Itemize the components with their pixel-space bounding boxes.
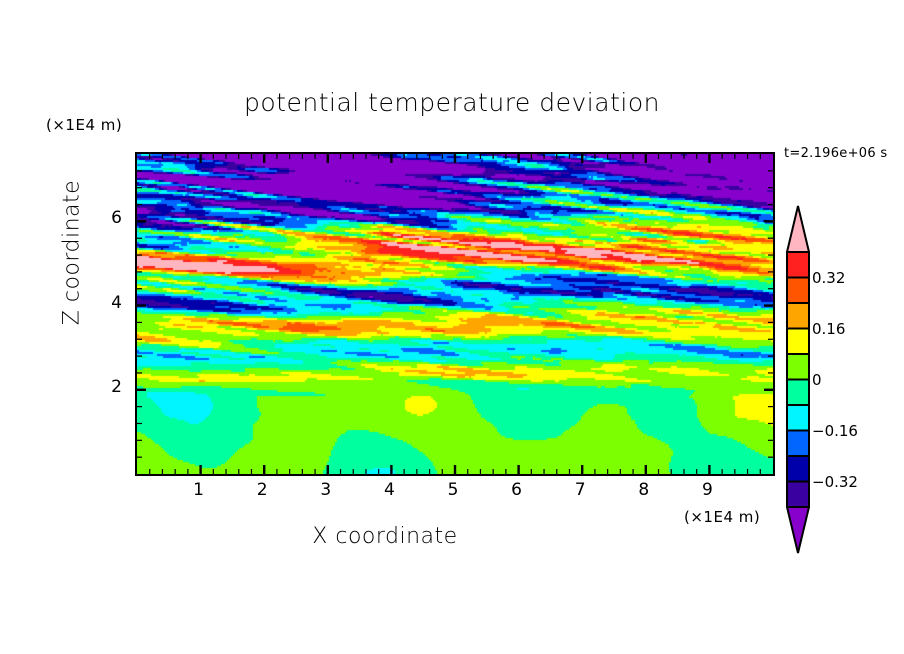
colorbar-band [787,278,809,304]
colorbar [786,205,810,558]
colorbar-tick-label: −0.16 [812,422,858,440]
y-tick-label: 2 [92,377,122,397]
x-tick-label: 7 [565,480,595,500]
colorbar-band [787,380,809,406]
colorbar-band [787,252,809,278]
colorbar-tick-label: 0 [812,371,822,389]
colorbar-band [787,431,809,457]
colorbar-under-cap [787,507,809,553]
colorbar-tick-label: 0.32 [812,269,845,287]
colorbar-band [787,456,809,482]
colorbar-band [787,482,809,508]
colorbar-tick-label: −0.32 [812,473,858,491]
x-tick-label: 4 [374,480,404,500]
contour-field-canvas [137,154,773,474]
x-tick-label: 1 [184,480,214,500]
y-tick-label: 6 [92,208,122,228]
plot-root: potential temperature deviation (×1E4 m)… [0,0,904,654]
y-tick-label: 4 [92,293,122,313]
colorbar-band [787,329,809,355]
time-annotation: t=2.196e+06 s [784,146,887,161]
colorbar-svg [786,205,810,554]
x-tick-label: 5 [438,480,468,500]
page-title: potential temperature deviation [0,88,904,117]
x-tick-label: 2 [247,480,277,500]
x-tick-label: 8 [629,480,659,500]
x-tick-label: 6 [502,480,532,500]
colorbar-tick-label: 0.16 [812,320,845,338]
y-axis-title: Z coordinate [60,143,85,363]
x-tick-label: 9 [692,480,722,500]
colorbar-over-cap [787,206,809,252]
colorbar-band [787,303,809,329]
z-axis-units-label: (×1E4 m) [46,116,122,134]
contour-plot-area [135,152,775,476]
x-tick-label: 3 [311,480,341,500]
colorbar-band [787,405,809,431]
x-axis-title: X coordinate [0,524,770,549]
colorbar-band [787,354,809,380]
